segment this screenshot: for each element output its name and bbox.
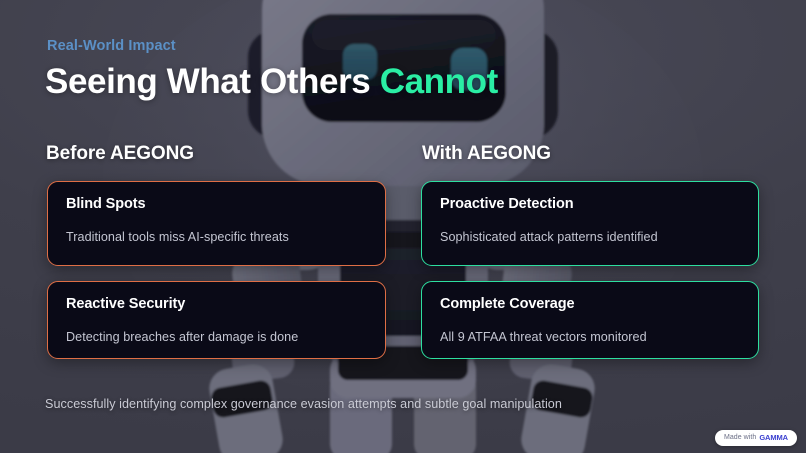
card-proactive-detection[interactable]: Proactive Detection Sophisticated attack… — [421, 181, 759, 266]
made-with-gamma-badge[interactable]: Made with GAMMA — [715, 430, 797, 447]
card-title: Proactive Detection — [440, 196, 740, 213]
card-reactive-security[interactable]: Reactive Security Detecting breaches aft… — [47, 281, 386, 359]
card-title: Blind Spots — [66, 196, 367, 213]
column-title-before: Before AEGONG — [46, 143, 194, 165]
card-blind-spots[interactable]: Blind Spots Traditional tools miss AI-sp… — [47, 181, 386, 266]
badge-brand-label: GAMMA — [759, 433, 788, 442]
card-description: All 9 ATFAA threat vectors monitored — [440, 329, 740, 345]
card-complete-coverage[interactable]: Complete Coverage All 9 ATFAA threat vec… — [421, 281, 759, 359]
headline-plain: Seeing What Others — [45, 62, 380, 101]
slide-canvas: Real-World Impact Seeing What Others Can… — [0, 0, 806, 453]
card-description: Detecting breaches after damage is done — [66, 329, 367, 345]
slide-caption: Successfully identifying complex governa… — [45, 397, 562, 411]
card-title: Complete Coverage — [440, 296, 740, 313]
column-title-with: With AEGONG — [422, 143, 551, 165]
headline-accent: Cannot — [380, 62, 498, 101]
slide-content: Real-World Impact Seeing What Others Can… — [0, 0, 806, 453]
card-title: Reactive Security — [66, 296, 367, 313]
card-description: Traditional tools miss AI-specific threa… — [66, 229, 367, 245]
page-title: Seeing What Others Cannot — [45, 62, 498, 102]
card-description: Sophisticated attack patterns identified — [440, 229, 740, 245]
badge-made-with-label: Made with — [724, 434, 756, 441]
kicker-label: Real-World Impact — [47, 38, 176, 54]
